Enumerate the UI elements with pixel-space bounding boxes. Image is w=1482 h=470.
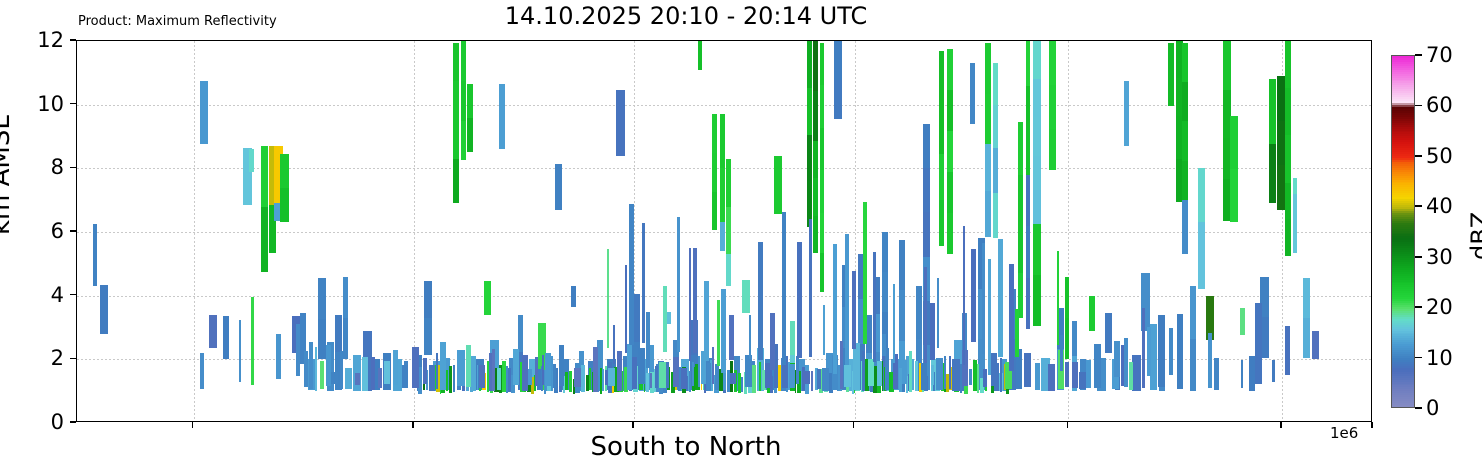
reflectivity-cell xyxy=(882,232,888,272)
reflectivity-cell xyxy=(436,353,438,389)
reflectivity-cell xyxy=(813,141,818,178)
reflectivity-cell xyxy=(223,316,228,359)
reflectivity-cell xyxy=(545,353,551,386)
reflectivity-cell xyxy=(466,345,471,387)
reflectivity-cell xyxy=(497,368,501,391)
reflectivity-cell xyxy=(522,355,528,391)
reflectivity-cell xyxy=(93,224,98,286)
reflectivity-cell xyxy=(629,204,634,344)
reflectivity-cell xyxy=(924,267,927,364)
reflectivity-cell xyxy=(553,364,556,388)
reflectivity-cell xyxy=(518,315,523,352)
reflectivity-cell xyxy=(1169,328,1174,375)
reflectivity-cell xyxy=(457,350,464,386)
reflectivity-cell xyxy=(345,368,352,389)
reflectivity-cell xyxy=(479,365,485,388)
reflectivity-cell xyxy=(1255,303,1262,384)
reflectivity-cell xyxy=(663,286,666,352)
reflectivity-cell xyxy=(1026,130,1031,175)
reflectivity-cell xyxy=(770,313,776,371)
reflectivity-cell xyxy=(555,164,562,210)
reflectivity-cell xyxy=(1057,251,1059,345)
reflectivity-cell xyxy=(280,188,288,222)
reflectivity-cell xyxy=(1312,331,1319,360)
reflectivity-cell xyxy=(1124,81,1129,146)
reflectivity-cell xyxy=(833,244,837,374)
reflectivity-cell xyxy=(947,172,953,213)
reflectivity-cell xyxy=(249,149,254,171)
x-axis-offset-text: 1e6 xyxy=(1330,424,1358,442)
reflectivity-cell xyxy=(296,324,301,376)
reflectivity-cell xyxy=(484,281,491,314)
reflectivity-cell xyxy=(1190,286,1196,339)
reflectivity-cell xyxy=(820,128,825,171)
reflectivity-cell xyxy=(899,240,906,290)
reflectivity-cell xyxy=(758,242,763,360)
reflectivity-cell xyxy=(939,154,944,200)
x-axis-tick-mark xyxy=(1067,422,1069,428)
reflectivity-cell xyxy=(882,334,886,356)
reflectivity-cell xyxy=(698,41,703,70)
reflectivity-cell xyxy=(960,364,962,394)
reflectivity-cell xyxy=(712,347,714,385)
colorbar-tick-mark xyxy=(1415,407,1422,409)
reflectivity-cell xyxy=(412,347,419,388)
reflectivity-cell xyxy=(502,361,506,392)
reflectivity-cell xyxy=(1223,41,1231,90)
reflectivity-cell xyxy=(998,239,1003,357)
colorbar-tick-mark xyxy=(1415,105,1422,107)
reflectivity-cell xyxy=(745,355,752,387)
x-axis-tick-mark xyxy=(853,422,855,428)
reflectivity-cell xyxy=(378,368,382,388)
reflectivity-cell xyxy=(650,373,652,388)
reflectivity-cell xyxy=(1190,339,1196,392)
reflectivity-cell xyxy=(985,191,990,237)
reflectivity-cell xyxy=(655,366,658,388)
reflectivity-cell xyxy=(866,315,871,353)
reflectivity-cell xyxy=(471,356,476,391)
reflectivity-cell xyxy=(717,300,720,366)
reflectivity-cell xyxy=(720,222,725,251)
y-axis-tick-label: 0 xyxy=(51,410,64,434)
reflectivity-cell xyxy=(467,118,473,152)
reflectivity-cell xyxy=(778,365,780,391)
reflectivity-cell xyxy=(823,305,826,355)
reflectivity-cell xyxy=(749,315,751,359)
reflectivity-cell xyxy=(993,148,998,193)
reflectivity-cell xyxy=(689,371,691,390)
reflectivity-cell xyxy=(730,373,736,385)
reflectivity-cell xyxy=(1105,313,1112,353)
reflectivity-cell xyxy=(811,371,813,391)
reflectivity-cell xyxy=(1033,224,1041,275)
reflectivity-cell xyxy=(862,351,865,392)
reflectivity-cell xyxy=(453,159,460,204)
reflectivity-cell xyxy=(461,81,466,121)
reflectivity-cell xyxy=(1214,358,1220,390)
reflectivity-cell xyxy=(1285,183,1291,220)
reflectivity-cell xyxy=(1269,144,1276,203)
reflectivity-cell xyxy=(868,359,874,386)
reflectivity-cell xyxy=(1272,360,1276,383)
reflectivity-cell xyxy=(789,364,795,388)
reflectivity-cell xyxy=(239,320,241,382)
reflectivity-cell xyxy=(1293,194,1298,253)
reflectivity-cell xyxy=(453,81,460,120)
reflectivity-cell xyxy=(820,170,825,213)
reflectivity-cell xyxy=(1182,82,1187,121)
reflectivity-cell xyxy=(355,373,360,385)
reflectivity-cell xyxy=(977,364,979,392)
reflectivity-cell xyxy=(845,234,848,365)
reflectivity-cell xyxy=(1277,165,1285,210)
reflectivity-cell xyxy=(616,90,625,155)
reflectivity-cell xyxy=(921,363,927,390)
y-axis-tick-label: 10 xyxy=(37,92,64,116)
reflectivity-cell xyxy=(1035,363,1040,391)
reflectivity-cell xyxy=(807,135,812,181)
reflectivity-cell xyxy=(304,351,309,386)
reflectivity-cell xyxy=(712,153,717,192)
reflectivity-cell xyxy=(499,84,504,149)
reflectivity-cell xyxy=(646,312,650,369)
reflectivity-cell xyxy=(571,286,576,307)
colorbar-tick-label: 0 xyxy=(1426,396,1439,420)
reflectivity-cell xyxy=(1094,344,1101,388)
reflectivity-cell xyxy=(659,362,666,388)
reflectivity-cell xyxy=(1018,122,1023,175)
reflectivity-cell xyxy=(1124,338,1129,387)
reflectivity-cell xyxy=(774,156,782,215)
reflectivity-cell xyxy=(952,359,959,392)
reflectivity-cell xyxy=(820,213,825,253)
reflectivity-cell xyxy=(251,297,254,385)
reflectivity-cell xyxy=(692,362,694,386)
reflectivity-cell xyxy=(916,286,923,339)
reflectivity-cell xyxy=(1147,327,1152,377)
colorbar-tick-mark xyxy=(1415,54,1422,56)
reflectivity-cell xyxy=(424,281,432,318)
reflectivity-cell xyxy=(559,345,564,386)
colorbar-segment xyxy=(1392,407,1414,408)
reflectivity-cell xyxy=(693,248,697,353)
reflectivity-cell xyxy=(807,88,812,135)
reflectivity-cell xyxy=(1049,41,1056,85)
reflectivity-cell xyxy=(477,365,479,391)
reflectivity-cell xyxy=(949,356,952,390)
reflectivity-cell xyxy=(1285,41,1291,88)
reflectivity-cell xyxy=(689,248,691,361)
reflectivity-cell xyxy=(632,357,637,390)
reflectivity-cell xyxy=(797,242,802,358)
reflectivity-cell xyxy=(318,319,326,360)
colorbar-tick-mark xyxy=(1415,357,1422,359)
reflectivity-cell xyxy=(642,223,645,343)
reflectivity-cell xyxy=(1277,76,1285,121)
y-axis-tick-label: 12 xyxy=(37,28,64,52)
reflectivity-cell xyxy=(100,285,107,334)
reflectivity-cell xyxy=(1114,341,1120,377)
reflectivity-cell xyxy=(939,200,944,246)
reflectivity-cell xyxy=(807,41,812,88)
reflectivity-cell xyxy=(899,290,906,340)
x-axis-tick-mark xyxy=(192,422,194,428)
reflectivity-cell xyxy=(593,347,597,391)
reflectivity-cell xyxy=(820,253,825,293)
reflectivity-cell xyxy=(947,49,953,90)
reflectivity-cell xyxy=(930,303,935,360)
reflectivity-cell xyxy=(813,41,818,91)
reflectivity-cell xyxy=(947,90,953,131)
reflectivity-cell xyxy=(318,278,326,319)
reflectivity-cell xyxy=(982,243,984,353)
reflectivity-cell xyxy=(698,356,700,388)
reflectivity-cell xyxy=(1018,227,1023,272)
reflectivity-cell xyxy=(983,369,988,387)
reflectivity-cell xyxy=(1086,360,1090,388)
reflectivity-cell xyxy=(969,369,971,385)
reflectivity-cell xyxy=(813,178,818,215)
reflectivity-cell xyxy=(877,361,882,385)
reflectivity-cell xyxy=(393,350,398,385)
reflectivity-cell xyxy=(343,318,348,359)
y-axis-tick-label: 6 xyxy=(51,219,64,243)
reflectivity-cell xyxy=(742,280,750,313)
reflectivity-cell xyxy=(720,168,725,222)
reflectivity-cell xyxy=(923,168,930,212)
reflectivity-cell xyxy=(613,325,615,364)
reflectivity-cell xyxy=(276,334,280,379)
reflectivity-cell xyxy=(1129,362,1133,390)
reflectivity-cell xyxy=(646,373,649,392)
reflectivity-cell xyxy=(1026,175,1031,226)
reflectivity-cell xyxy=(947,213,953,254)
reflectivity-cell xyxy=(1024,353,1031,387)
reflectivity-cell xyxy=(1240,308,1245,335)
reflectivity-cell xyxy=(1026,86,1031,131)
reflectivity-cell xyxy=(320,361,325,389)
reflectivity-cell xyxy=(467,84,473,118)
reflectivity-cell xyxy=(617,351,623,390)
reflectivity-cell xyxy=(1026,278,1031,329)
reflectivity-cell xyxy=(1132,355,1141,392)
reflectivity-cell xyxy=(931,365,935,385)
reflectivity-cell xyxy=(453,120,460,159)
reflectivity-cell xyxy=(492,349,495,391)
x-axis-tick-mark xyxy=(412,422,414,428)
reflectivity-cell xyxy=(1230,169,1237,222)
reflectivity-cell xyxy=(261,207,268,272)
reflectivity-cell xyxy=(712,192,717,230)
reflectivity-cell xyxy=(343,277,348,318)
colorbar-tick-mark xyxy=(1415,205,1422,207)
colorbar[interactable] xyxy=(1391,55,1415,408)
reflectivity-cell xyxy=(607,249,609,347)
reflectivity-cell xyxy=(1033,275,1041,326)
reflectivity-cell xyxy=(752,365,756,393)
reflectivity-cell xyxy=(882,272,888,312)
reflectivity-cell xyxy=(985,144,990,190)
reflectivity-cell xyxy=(923,212,930,256)
reflectivity-cell xyxy=(863,202,867,344)
reflectivity-cell xyxy=(1089,296,1095,331)
reflectivity-cell xyxy=(200,353,204,389)
reflectivity-cell xyxy=(677,217,680,352)
colorbar-tick-mark xyxy=(1415,306,1422,308)
reflectivity-cell xyxy=(608,368,615,386)
reflectivity-cell xyxy=(1000,358,1003,392)
reflectivity-cell xyxy=(1009,264,1014,371)
product-annotation: Product: Maximum Reflectivity xyxy=(78,14,277,29)
reflectivity-cell xyxy=(809,219,812,357)
reflectivity-cell xyxy=(280,154,288,188)
y-axis-tick-label: 4 xyxy=(51,283,64,307)
reflectivity-cell xyxy=(1182,161,1187,200)
reflectivity-cell xyxy=(840,341,843,389)
reflectivity-cell xyxy=(446,370,449,391)
reflectivity-cell xyxy=(1293,178,1298,194)
reflectivity-cell xyxy=(535,357,538,386)
reflectivity-cell xyxy=(326,345,331,386)
x-axis-label: South to North xyxy=(0,432,1372,462)
reflectivity-cell xyxy=(993,105,998,147)
reflectivity-cell xyxy=(923,124,930,168)
reflectivity-cell xyxy=(461,41,466,81)
reflectivity-cell xyxy=(796,356,799,384)
y-axis-tick-label: 2 xyxy=(51,346,64,370)
reflectivity-cell xyxy=(528,369,532,385)
reflectivity-cell xyxy=(1249,356,1255,391)
reflectivity-cell xyxy=(1065,362,1069,387)
reflectivity-cell xyxy=(453,43,460,82)
reflectivity-cell xyxy=(1033,79,1041,117)
reflectivity-cell xyxy=(704,281,709,360)
reflectivity-cell xyxy=(844,365,851,387)
reflectivity-cell xyxy=(440,342,446,389)
reflectivity-cell xyxy=(1241,360,1244,388)
reflectivity-cell xyxy=(820,85,825,128)
reflectivity-cell xyxy=(453,365,456,392)
reflectivity-cell xyxy=(1285,219,1291,256)
reflectivity-cell xyxy=(936,358,942,390)
reflectivity-cell xyxy=(1033,117,1041,155)
reflectivity-cell xyxy=(261,146,268,206)
reflectivity-cell xyxy=(384,361,391,384)
reflectivity-cell xyxy=(993,63,998,105)
reflectivity-cell xyxy=(852,271,856,349)
reflectivity-cell xyxy=(513,349,519,385)
reflectivity-cell xyxy=(1048,364,1055,391)
reflectivity-cell xyxy=(1182,43,1187,82)
reflectivity-cell xyxy=(1142,308,1144,389)
reflectivity-cell xyxy=(988,259,992,375)
reflectivity-cell xyxy=(1182,200,1187,254)
reflectivity-cell xyxy=(803,371,810,384)
reflectivity-cell xyxy=(971,249,976,343)
reflectivity-cell xyxy=(1026,41,1031,86)
reflectivity-cell xyxy=(893,284,895,363)
reflectivity-cell xyxy=(937,278,939,348)
reflectivity-cell xyxy=(681,368,687,390)
reflectivity-cell xyxy=(1269,79,1276,144)
reflectivity-cell xyxy=(993,193,998,238)
reflectivity-cell xyxy=(944,356,946,389)
reflectivity-cell xyxy=(1018,175,1023,228)
y-axis-label: km AMSL xyxy=(0,115,16,235)
reflectivity-cell xyxy=(721,289,726,373)
colorbar-tick-label: 30 xyxy=(1426,245,1453,269)
reflectivity-cell xyxy=(581,365,585,392)
reflectivity-cell xyxy=(315,347,317,391)
reflectivity-cell xyxy=(720,114,725,168)
reflectivity-cell xyxy=(813,91,818,141)
reflectivity-cell xyxy=(461,121,466,161)
colorbar-tick-label: 10 xyxy=(1426,346,1453,370)
reflectivity-cell xyxy=(985,43,990,94)
reflectivity-cell xyxy=(991,353,997,386)
colorbar-tick-label: 50 xyxy=(1426,144,1453,168)
reflectivity-cell xyxy=(1277,121,1285,166)
reflectivity-cell xyxy=(1198,222,1205,289)
reflectivity-cell xyxy=(873,252,876,362)
reflectivity-cell xyxy=(340,351,342,389)
y-axis-tick-label: 8 xyxy=(51,155,64,179)
reflectivity-cell xyxy=(402,365,408,388)
reflectivity-cell xyxy=(423,358,427,384)
reflectivity-cell xyxy=(909,351,912,391)
reflectivity-cell xyxy=(1026,226,1031,277)
reflectivity-cell xyxy=(673,357,678,387)
reflectivity-cell xyxy=(429,365,435,391)
reflectivity-cell xyxy=(1065,318,1070,359)
reflectivity-cell xyxy=(726,159,731,207)
reflectivity-cell xyxy=(1285,88,1291,135)
colorbar-tick-mark xyxy=(1415,155,1422,157)
reflectivity-cell xyxy=(638,348,645,385)
reflectivity-cell xyxy=(1303,318,1310,358)
reflectivity-cell xyxy=(331,372,338,384)
reflectivity-cell xyxy=(853,343,860,390)
reflectivity-cell xyxy=(813,216,818,253)
reflectivity-cell xyxy=(1230,116,1237,169)
x-axis-tick-mark xyxy=(1371,422,1373,428)
reflectivity-cell xyxy=(1208,333,1212,388)
reflectivity-cell xyxy=(820,43,825,86)
reflectivity-cell xyxy=(1065,277,1070,318)
grid-line-vertical xyxy=(194,41,195,421)
reflectivity-cell xyxy=(371,357,376,390)
colorbar-tick-label: 60 xyxy=(1426,93,1453,117)
reflectivity-cell xyxy=(1033,41,1041,79)
reflectivity-cell xyxy=(715,364,719,391)
reflectivity-cell xyxy=(1182,121,1187,160)
reflectivity-cell xyxy=(970,63,975,123)
reflectivity-cell xyxy=(817,369,821,389)
plot-area[interactable] xyxy=(76,40,1372,422)
reflectivity-cell xyxy=(335,315,342,352)
reflectivity-cell xyxy=(574,368,581,386)
reflectivity-cell xyxy=(1168,43,1174,107)
reflectivity-cell xyxy=(726,254,731,286)
reflectivity-cell xyxy=(309,342,313,389)
reflectivity-cell xyxy=(1177,314,1183,389)
reflectivity-cell xyxy=(834,41,842,80)
reflectivity-cell xyxy=(1303,278,1310,318)
x-axis-tick-mark xyxy=(1280,422,1282,428)
reflectivity-cell xyxy=(1033,156,1041,190)
reflectivity-cell xyxy=(666,362,669,387)
